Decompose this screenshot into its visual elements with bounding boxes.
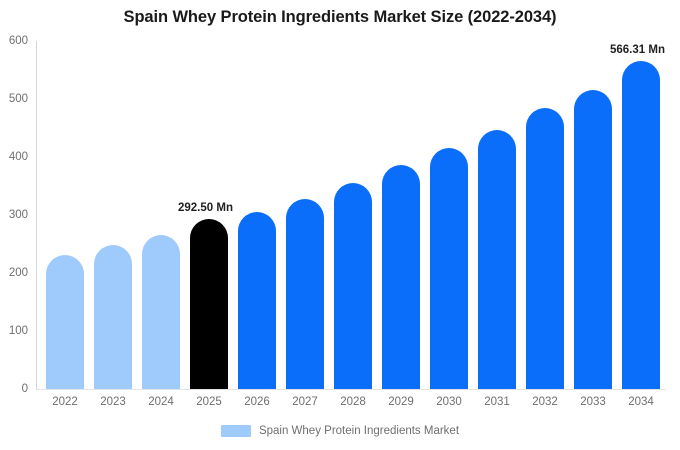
x-axis-tick-2022: 2022 <box>46 396 84 408</box>
bar-2025[interactable] <box>190 219 228 389</box>
y-axis-tick-600: 600 <box>0 35 28 47</box>
legend-swatch[interactable] <box>221 425 251 437</box>
x-axis-tick-2027: 2027 <box>286 396 324 408</box>
x-axis-tick-2034: 2034 <box>622 396 660 408</box>
y-axis-tick-0: 0 <box>0 383 28 395</box>
x-axis-tick-2031: 2031 <box>478 396 516 408</box>
x-axis-line <box>36 389 666 390</box>
y-axis-tick-200: 200 <box>0 267 28 279</box>
x-axis-tick-2030: 2030 <box>430 396 468 408</box>
bar-2030[interactable] <box>430 148 468 389</box>
chart-title: Spain Whey Protein Ingredients Market Si… <box>0 8 680 27</box>
bar-2023[interactable] <box>94 245 132 389</box>
bar-2032[interactable] <box>526 108 564 389</box>
x-axis-tick-2028: 2028 <box>334 396 372 408</box>
x-axis-tick-2032: 2032 <box>526 396 564 408</box>
y-axis-tick-400: 400 <box>0 151 28 163</box>
y-axis-tick-100: 100 <box>0 325 28 337</box>
bar-2028[interactable] <box>334 183 372 389</box>
chart-legend: Spain Whey Protein Ingredients Market <box>0 425 680 437</box>
y-axis-tick-300: 300 <box>0 209 28 221</box>
x-axis-tick-2023: 2023 <box>94 396 132 408</box>
value-label-2025: 292.50 Mn <box>178 202 233 214</box>
bar-2034[interactable] <box>622 61 660 389</box>
bar-2033[interactable] <box>574 90 612 389</box>
bar-2029[interactable] <box>382 165 420 389</box>
legend-label[interactable]: Spain Whey Protein Ingredients Market <box>259 425 459 437</box>
x-axis-tick-2033: 2033 <box>574 396 612 408</box>
chart-container: Spain Whey Protein Ingredients Market Si… <box>0 0 680 450</box>
value-label-2034: 566.31 Mn <box>610 44 665 56</box>
x-axis-tick-2026: 2026 <box>238 396 276 408</box>
bar-2022[interactable] <box>46 255 84 389</box>
bar-2031[interactable] <box>478 130 516 389</box>
bar-2027[interactable] <box>286 199 324 389</box>
y-axis-tick-500: 500 <box>0 93 28 105</box>
bar-2026[interactable] <box>238 212 276 389</box>
x-axis-tick-2025: 2025 <box>190 396 228 408</box>
bar-2024[interactable] <box>142 235 180 389</box>
y-axis-line <box>36 41 37 389</box>
x-axis-tick-2024: 2024 <box>142 396 180 408</box>
x-axis-tick-2029: 2029 <box>382 396 420 408</box>
